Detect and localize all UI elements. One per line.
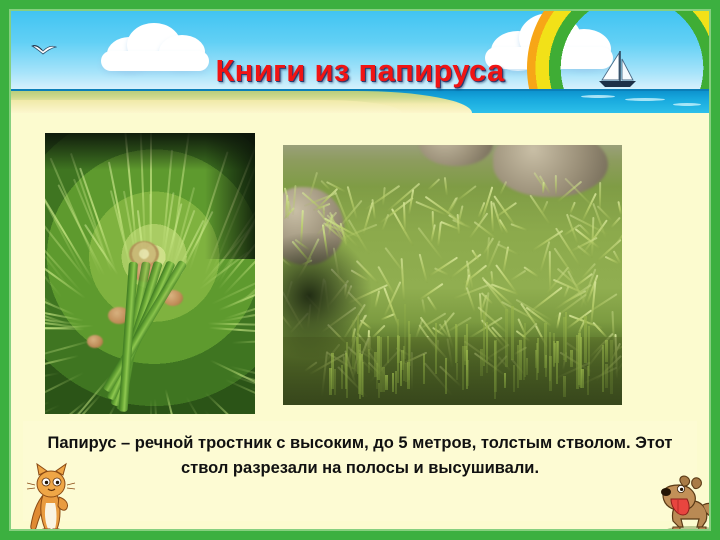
wave xyxy=(673,103,701,106)
page-title: Книги из папируса xyxy=(9,53,711,89)
slide: Книги из папируса Папирус – речной трост… xyxy=(0,0,720,540)
beach-foam xyxy=(9,100,402,113)
wave xyxy=(581,95,615,98)
header-banner: Книги из папируса xyxy=(9,9,711,113)
cartoon-dog-icon xyxy=(659,471,720,537)
photo-papyrus-riverbank xyxy=(283,145,622,405)
cartoon-cat-icon xyxy=(23,459,79,539)
caption-box: Папирус – речной тростник с высоким, до … xyxy=(23,421,697,521)
caption-text: Папирус – речной тростник с высоким, до … xyxy=(45,431,675,481)
photo-papyrus-umbel xyxy=(45,133,255,414)
wave xyxy=(625,98,665,101)
